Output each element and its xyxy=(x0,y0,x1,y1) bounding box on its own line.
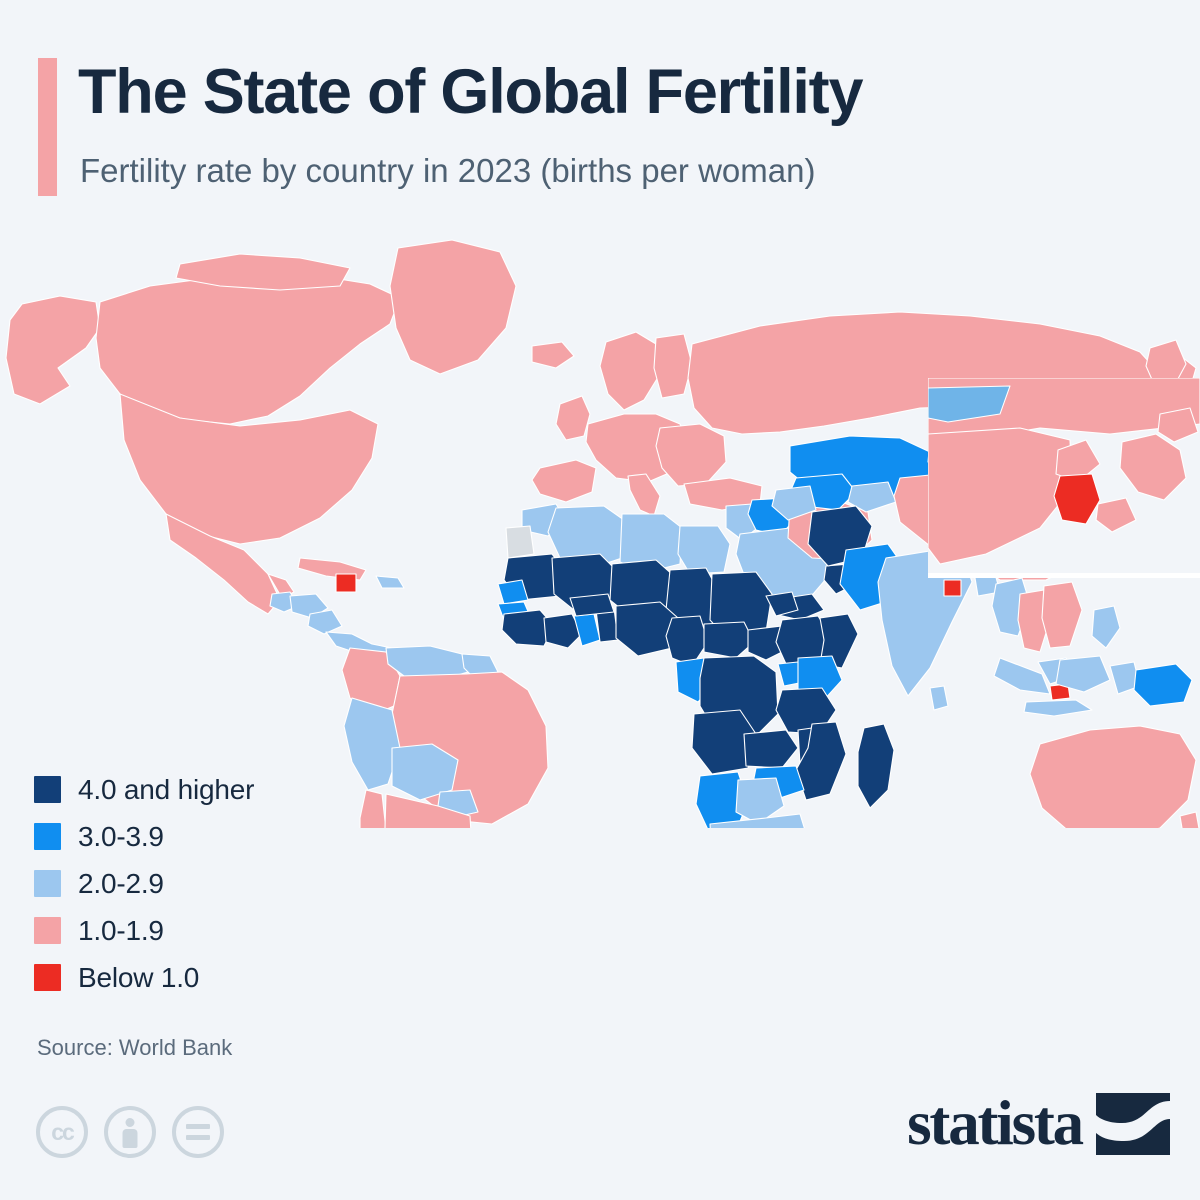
country-taiwan-marker xyxy=(944,580,961,596)
world-map-container xyxy=(0,228,1200,828)
country-nicaragua xyxy=(308,610,342,634)
country-puerto-rico xyxy=(336,574,356,592)
legend-label-1-0-1-9: 1.0-1.9 xyxy=(78,915,164,947)
country-italy xyxy=(628,474,660,516)
legend-swatch-1-0-1-9 xyxy=(34,917,61,944)
country-canada xyxy=(96,274,400,424)
country-zambia xyxy=(744,730,798,768)
region-central-america xyxy=(270,592,392,660)
equals-bar-top xyxy=(186,1124,210,1129)
country-sri-lanka xyxy=(930,686,948,710)
legend-item-3[interactable]: 1.0-1.9 xyxy=(34,907,364,954)
legend-item-2[interactable]: 2.0-2.9 xyxy=(34,860,364,907)
map-legend: 4.0 and higher 3.0-3.9 2.0-2.9 1.0-1.9 B… xyxy=(34,766,364,1001)
equals-glyph xyxy=(186,1124,210,1140)
country-vietnam-laos-cambodia xyxy=(1042,582,1082,648)
person-body-shape xyxy=(123,1129,138,1148)
legend-label-2-0-2-9: 2.0-2.9 xyxy=(78,868,164,900)
country-indonesia-java xyxy=(1024,700,1092,716)
statista-s-curve-mark xyxy=(1096,1093,1170,1155)
world-choropleth-map xyxy=(0,228,1200,828)
legend-label-below-1-0: Below 1.0 xyxy=(78,962,199,994)
country-australia xyxy=(1030,726,1196,828)
cc-icon-text: cc xyxy=(51,1121,73,1144)
statista-wordmark: statista xyxy=(907,1092,1082,1155)
country-alaska xyxy=(6,296,100,404)
country-ghana xyxy=(574,614,600,646)
country-indonesia-borneo xyxy=(1056,656,1110,692)
legend-label-3-0-3-9: 3.0-3.9 xyxy=(78,821,164,853)
inset-divider-line xyxy=(928,573,1200,578)
country-senegal xyxy=(498,580,528,604)
country-philippines xyxy=(1092,606,1120,648)
legend-item-0[interactable]: 4.0 and higher xyxy=(34,766,364,813)
accent-bar xyxy=(38,58,57,196)
iberian-peninsula xyxy=(532,460,596,502)
country-greenland xyxy=(390,240,516,374)
page-subtitle: Fertility rate by country in 2023 (birth… xyxy=(80,152,815,190)
legend-label-4-and-higher: 4.0 and higher xyxy=(78,774,254,806)
country-iceland xyxy=(532,342,574,368)
legend-swatch-2-0-2-9 xyxy=(34,870,61,897)
eastern-europe-balkans xyxy=(656,424,726,486)
country-western-sahara xyxy=(506,526,534,558)
region-caribbean xyxy=(298,558,404,592)
country-finland xyxy=(654,334,692,398)
country-car xyxy=(704,622,754,658)
scandinavia xyxy=(600,332,660,410)
country-burkina-faso xyxy=(570,594,614,616)
legend-swatch-below-1-0 xyxy=(34,964,61,991)
legend-item-1[interactable]: 3.0-3.9 xyxy=(34,813,364,860)
infographic-root: The State of Global Fertility Fertility … xyxy=(0,0,1200,1200)
legend-item-4[interactable]: Below 1.0 xyxy=(34,954,364,1001)
region-north-america xyxy=(6,240,516,614)
page-title: The State of Global Fertility xyxy=(78,58,862,126)
country-madagascar xyxy=(858,724,894,808)
cc-icon[interactable]: cc xyxy=(36,1106,88,1158)
country-new-zealand xyxy=(1180,812,1200,828)
country-chile xyxy=(360,790,388,828)
region-south-america xyxy=(342,646,548,828)
no-derivatives-equals-icon[interactable] xyxy=(172,1106,224,1158)
legend-swatch-3-0-3-9 xyxy=(34,823,61,850)
statista-logo[interactable]: statista xyxy=(907,1092,1170,1155)
east-asia-inset-panel xyxy=(928,378,1200,573)
country-uk-ireland xyxy=(556,396,590,440)
person-head-shape xyxy=(126,1118,135,1127)
attribution-person-icon[interactable] xyxy=(104,1106,156,1158)
country-egypt xyxy=(678,526,730,574)
country-hispaniola xyxy=(376,576,404,588)
equals-bar-bottom xyxy=(186,1135,210,1140)
country-papua-new-guinea xyxy=(1134,664,1192,706)
header: The State of Global Fertility Fertility … xyxy=(0,0,1200,230)
creative-commons-icons: cc xyxy=(36,1106,224,1158)
source-attribution: Source: World Bank xyxy=(37,1035,232,1061)
legend-swatch-4-and-higher xyxy=(34,776,61,803)
